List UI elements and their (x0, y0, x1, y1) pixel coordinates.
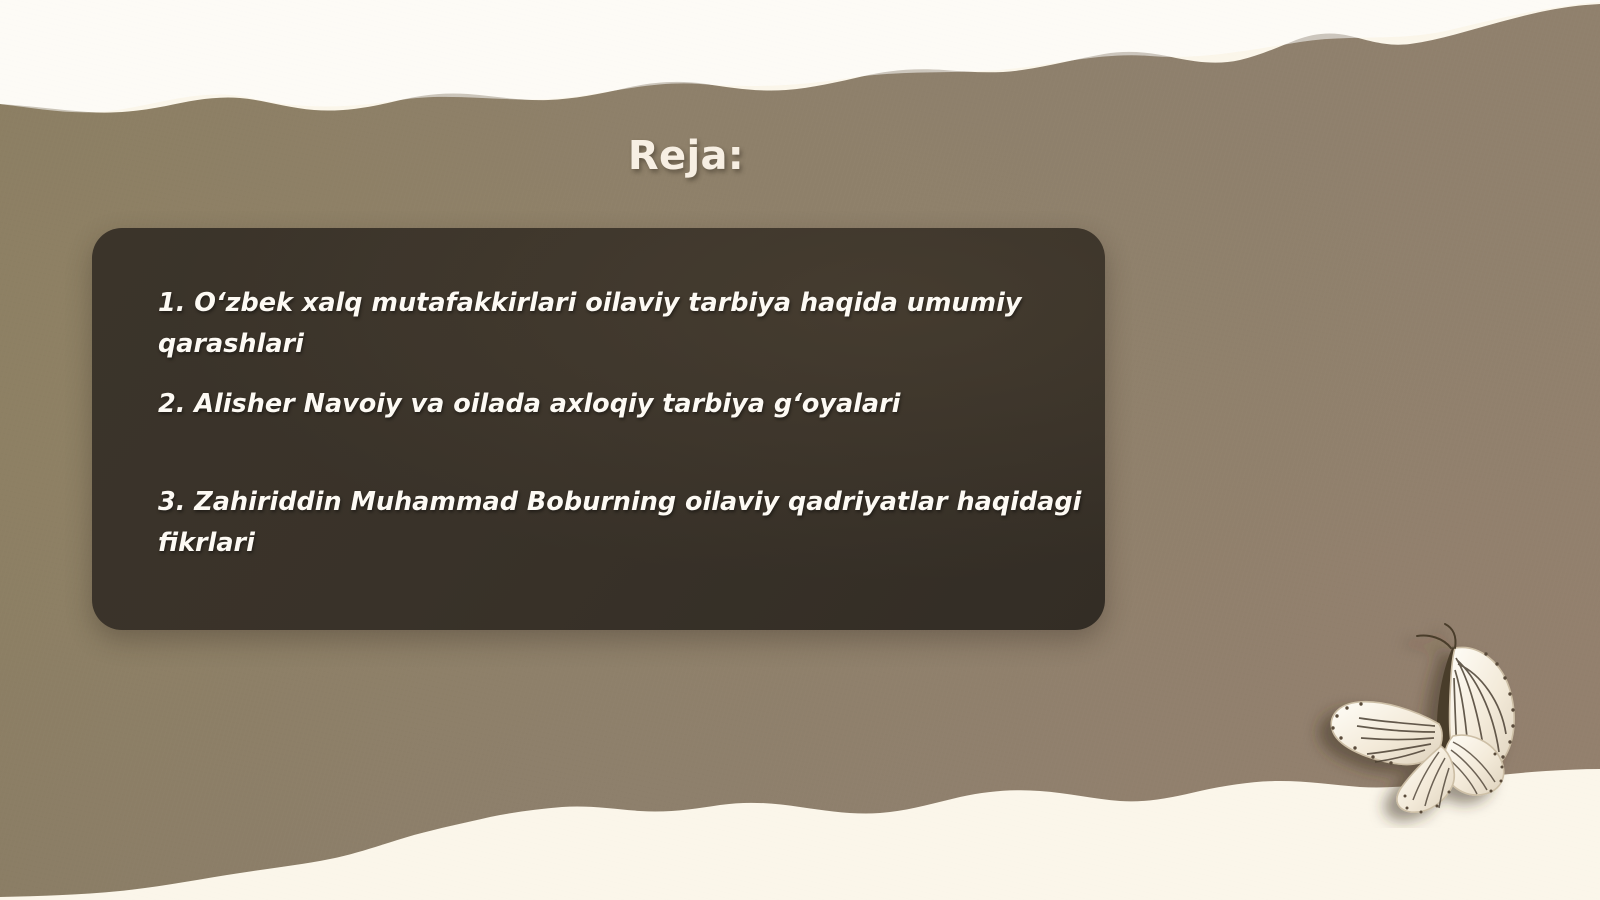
torn-paper-edge-top (0, 0, 1600, 135)
outline-item-2: 2. Alisher Navoiy va oilada axloqiy tarb… (158, 384, 1043, 425)
slide-canvas: Reja: 1. Oʻzbek xalq mutafakkirlari oila… (0, 0, 1600, 900)
butterfly-icon (1303, 618, 1533, 828)
outline-item-3: 3. Zahiriddin Muhammad Boburning oilaviy… (158, 482, 1105, 564)
outline-card: 1. Oʻzbek xalq mutafakkirlari oilaviy ta… (92, 228, 1105, 630)
torn-paper-edge-bottom (0, 765, 1600, 900)
outline-item-1: 1. Oʻzbek xalq mutafakkirlari oilaviy ta… (158, 283, 1043, 365)
outline-list: 1. Oʻzbek xalq mutafakkirlari oilaviy ta… (158, 283, 1105, 564)
slide-title: Reja: (0, 133, 1372, 179)
